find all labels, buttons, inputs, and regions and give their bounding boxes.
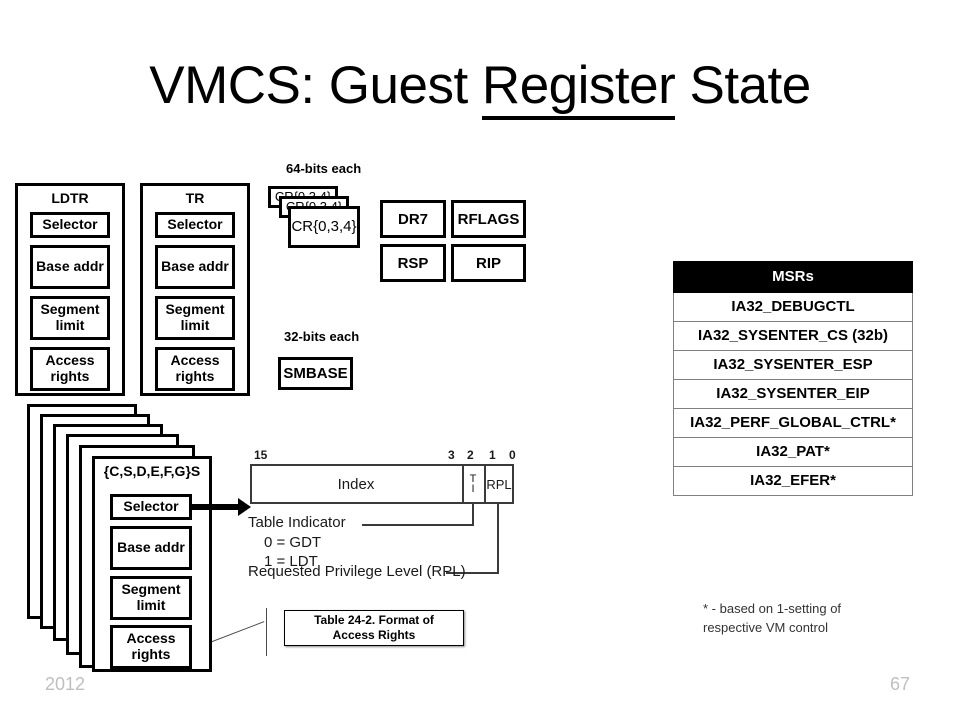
msr-row-perf-global-ctrl: IA32_PERF_GLOBAL_CTRL*	[674, 409, 913, 438]
footer-year: 2012	[45, 674, 85, 695]
title-part-1: VMCS: Guest	[149, 56, 482, 115]
ldtr-base-addr-text: Base addr	[36, 259, 104, 275]
register-box-smbase: SMBASE	[278, 357, 353, 390]
msr-row-pat: IA32_PAT*	[674, 438, 913, 467]
msr-table-header: MSRs	[674, 262, 913, 293]
msr-row-efer: IA32_EFER*	[674, 467, 913, 496]
register-box-rsp: RSP	[380, 244, 446, 282]
bit-label-3: 3	[448, 448, 455, 462]
tr-field-base-addr: Base addr	[155, 245, 235, 289]
tr-field-selector: Selector	[155, 212, 235, 238]
msr-row-sysenter-cs: IA32_SYSENTER_CS (32b)	[674, 322, 913, 351]
title-part-3: State	[675, 56, 810, 115]
tr-field-segment-limit: Segment limit	[155, 296, 235, 340]
ti-leader-vertical	[472, 504, 474, 526]
tr-base-addr-text: Base addr	[161, 259, 229, 275]
tr-access-rights-text: Access rights	[160, 353, 230, 384]
bit-label-2: 2	[467, 448, 474, 462]
note-64-bits-each: 64-bits each	[286, 161, 361, 176]
ldtr-segment-limit-text: Segment limit	[35, 302, 105, 333]
ldtr-access-rights-text: Access rights	[35, 353, 105, 384]
callout-line-1: Table 24-2. Format of	[314, 613, 434, 628]
tr-label: TR	[143, 190, 247, 206]
register-box-rflags: RFLAGS	[451, 200, 526, 238]
ldtr-label: LDTR	[18, 190, 122, 206]
legend-rpl: Requested Privilege Level (RPL)	[248, 563, 466, 580]
msr-table-header-row: MSRs	[674, 262, 913, 293]
selector-bit-diagram: 15 3 2 1 0 Index T I RPL Table Indicator…	[248, 448, 528, 598]
footer-page-number: 67	[890, 674, 910, 695]
register-box-dr7: DR7	[380, 200, 446, 238]
segment-field-access-rights: Access rights	[110, 625, 192, 669]
asterisk-footnote: * - based on 1-setting of respective VM …	[703, 600, 863, 638]
ti-leader-horizontal	[362, 524, 474, 526]
table-row: IA32_PERF_GLOBAL_CTRL*	[674, 409, 913, 438]
ldtr-field-segment-limit: Segment limit	[30, 296, 110, 340]
callout-line-2: Access Rights	[314, 628, 434, 643]
tr-field-access-rights: Access rights	[155, 347, 235, 391]
bit-label-0: 0	[509, 448, 516, 462]
slide-canvas: VMCS: Guest Register State LDTR Selector…	[0, 0, 960, 720]
register-box-rip: RIP	[451, 244, 526, 282]
bit-field-index: Index	[250, 464, 462, 504]
msr-row-sysenter-esp: IA32_SYSENTER_ESP	[674, 351, 913, 380]
table-row: IA32_EFER*	[674, 467, 913, 496]
msr-row-debugctl: IA32_DEBUGCTL	[674, 293, 913, 322]
segment-field-base-addr: Base addr	[110, 526, 192, 570]
segment-stack-label: {C,S,D,E,F,G}S	[95, 463, 209, 479]
segment-segment-limit-text: Segment limit	[115, 582, 187, 613]
selector-arrow-head	[238, 498, 251, 516]
table-row: IA32_DEBUGCTL	[674, 293, 913, 322]
msr-row-sysenter-eip: IA32_SYSENTER_EIP	[674, 380, 913, 409]
ldtr-field-selector: Selector	[30, 212, 110, 238]
table-row: IA32_SYSENTER_EIP	[674, 380, 913, 409]
table-row: IA32_PAT*	[674, 438, 913, 467]
segment-field-selector: Selector	[110, 494, 192, 520]
access-rights-callout-bracket	[266, 608, 267, 656]
legend-gdt: 0 = GDT	[264, 534, 321, 551]
table-24-2-callout: Table 24-2. Format of Access Rights	[284, 610, 464, 646]
bit-label-1: 1	[489, 448, 496, 462]
segment-field-segment-limit: Segment limit	[110, 576, 192, 620]
cr-stack-box-front: CR{0,3,4}	[288, 206, 360, 248]
selector-arrow-shaft	[192, 504, 240, 510]
bit-field-ti-i: I	[471, 484, 474, 494]
table-row: IA32_SYSENTER_ESP	[674, 351, 913, 380]
table-row: IA32_SYSENTER_CS (32b)	[674, 322, 913, 351]
bit-label-15: 15	[254, 448, 267, 462]
rpl-leader-vertical	[497, 504, 499, 574]
bit-field-ti: T I	[462, 464, 484, 504]
note-32-bits-each: 32-bits each	[284, 329, 359, 344]
segment-base-addr-text: Base addr	[117, 540, 185, 556]
bit-field-rpl: RPL	[484, 464, 514, 504]
msr-table: MSRs IA32_DEBUGCTL IA32_SYSENTER_CS (32b…	[673, 261, 913, 496]
ldtr-field-base-addr: Base addr	[30, 245, 110, 289]
title-underlined-word: Register	[482, 56, 675, 120]
segment-access-rights-text: Access rights	[115, 631, 187, 662]
tr-segment-limit-text: Segment limit	[160, 302, 230, 333]
ldtr-field-access-rights: Access rights	[30, 347, 110, 391]
legend-table-indicator: Table Indicator	[248, 514, 346, 531]
page-title: VMCS: Guest Register State	[0, 58, 960, 114]
